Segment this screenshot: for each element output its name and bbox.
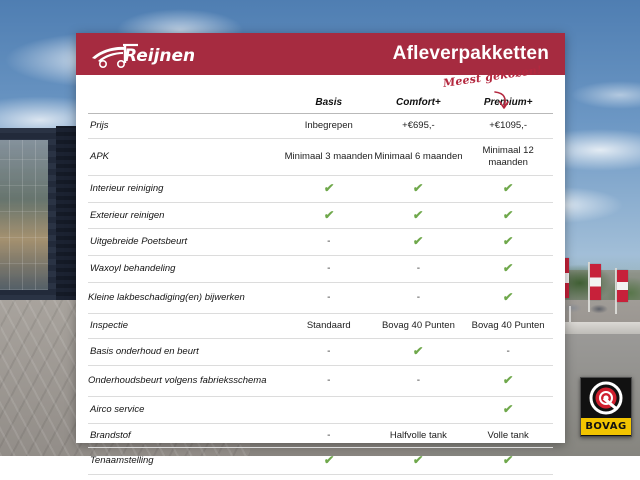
card-header: Reijnen Afleverpakketten (76, 33, 565, 75)
poster-canvas: Reijnen Afleverpakketten (0, 0, 640, 480)
cell-comfort: - (374, 256, 464, 283)
column-header-premium: Premium+ (463, 75, 553, 114)
cell-basis: - (284, 283, 374, 314)
cell-comfort: Bovag 40 Punten (374, 314, 464, 339)
table-row: 12 maand mobiliteit garantie-✔✔ (88, 475, 553, 480)
cell-basis: ✔ (284, 448, 374, 475)
row-label: Inspectie (88, 314, 284, 339)
bovag-badge: BOVAG (580, 377, 632, 437)
cell-basis: - (284, 423, 374, 448)
check-icon: ✔ (413, 345, 424, 357)
dash-marker: - (327, 293, 330, 303)
bovag-wordmark: BOVAG (581, 418, 631, 435)
table-row: PrijsInbegrepen+€695,-+€1095,- (88, 114, 553, 139)
column-header-label (88, 75, 284, 114)
cell-comfort: ✔ (374, 229, 464, 256)
cell-premium: ✔ (463, 256, 553, 283)
cell-comfort: - (374, 283, 464, 314)
row-label: Airco service (88, 396, 284, 423)
row-label: Basis onderhoud en beurt (88, 338, 284, 365)
row-label: Uitgebreide Poetsbeurt (88, 229, 284, 256)
cell-comfort: ✔ (374, 448, 464, 475)
cell-basis: ✔ (284, 202, 374, 229)
cell-basis: Minimaal 3 maanden (284, 138, 374, 175)
banner-flag (590, 264, 601, 300)
row-label: Kleine lakbeschadiging(en) bijwerken (88, 283, 284, 314)
dash-marker: - (327, 431, 330, 441)
check-icon: ✔ (323, 454, 334, 466)
table-row: Brandstof-Halfvolle tankVolle tank (88, 423, 553, 448)
table-row: Airco service ✔ (88, 396, 553, 423)
check-icon: ✔ (323, 209, 334, 221)
banner-flag (617, 270, 628, 302)
reijnen-logo: Reijnen (90, 37, 194, 71)
table-row: Exterieur reinigen✔✔✔ (88, 202, 553, 229)
dash-marker: - (506, 347, 509, 357)
check-icon: ✔ (502, 291, 513, 303)
cell-basis (284, 396, 374, 423)
table-body: PrijsInbegrepen+€695,-+€1095,-APKMinimaa… (88, 114, 553, 480)
cell-comfort (374, 396, 464, 423)
row-label: Exterieur reinigen (88, 202, 284, 229)
check-icon: ✔ (413, 182, 424, 194)
cell-premium: ✔ (463, 448, 553, 475)
table-row: APKMinimaal 3 maandenMinimaal 6 maandenM… (88, 138, 553, 175)
table-row: Waxoyl behandeling--✔ (88, 256, 553, 283)
table-row: Onderhoudsbeurt volgens fabrieksschema--… (88, 365, 553, 396)
table-row: Tenaamstelling✔✔✔ (88, 448, 553, 475)
empty-cell (417, 404, 420, 416)
svg-text:Reijnen: Reijnen (124, 46, 194, 66)
dash-marker: - (417, 264, 420, 274)
header-row: Basis Comfort+ Premium+ (88, 75, 553, 114)
cell-comfort: ✔ (374, 175, 464, 202)
cell-premium: ✔ (463, 175, 553, 202)
dash-marker: - (417, 293, 420, 303)
check-icon: ✔ (502, 182, 513, 194)
table-row: Basis onderhoud en beurt-✔- (88, 338, 553, 365)
row-label: Brandstof (88, 423, 284, 448)
table-head: Basis Comfort+ Premium+ (88, 75, 553, 114)
cell-comfort: Minimaal 6 maanden (374, 138, 464, 175)
bovag-target-icon (581, 378, 631, 418)
table-row: Uitgebreide Poetsbeurt-✔✔ (88, 229, 553, 256)
row-label: APK (88, 138, 284, 175)
table-row: Interieur reiniging✔✔✔ (88, 175, 553, 202)
cell-basis: Inbegrepen (284, 114, 374, 139)
check-icon: ✔ (502, 403, 513, 415)
row-label: Waxoyl behandeling (88, 256, 284, 283)
check-icon: ✔ (413, 235, 424, 247)
cell-comfort: ✔ (374, 338, 464, 365)
comparison-table-wrap: Basis Comfort+ Premium+ PrijsInbegrepen+… (76, 75, 565, 480)
cell-basis: Standaard (284, 314, 374, 339)
row-label: Prijs (88, 114, 284, 139)
check-icon: ✔ (323, 182, 334, 194)
row-label: Tenaamstelling (88, 448, 284, 475)
check-icon: ✔ (502, 262, 513, 274)
cell-premium: ✔ (463, 229, 553, 256)
check-icon: ✔ (413, 454, 424, 466)
check-icon: ✔ (502, 454, 513, 466)
cell-basis: - (284, 256, 374, 283)
check-icon: ✔ (502, 235, 513, 247)
page-title: Afleverpakketten (393, 43, 549, 65)
row-label: 12 maand mobiliteit garantie (88, 475, 284, 480)
column-header-comfort: Comfort+ (374, 75, 464, 114)
cell-basis: - (284, 229, 374, 256)
table-row: InspectieStandaardBovag 40 PuntenBovag 4… (88, 314, 553, 339)
empty-cell (327, 404, 330, 416)
check-icon: ✔ (502, 209, 513, 221)
cell-premium: Bovag 40 Punten (463, 314, 553, 339)
building-glass-facade (0, 140, 48, 290)
check-icon: ✔ (502, 374, 513, 386)
cell-premium: ✔ (463, 202, 553, 229)
dash-marker: - (327, 376, 330, 386)
cell-premium: ✔ (463, 475, 553, 480)
cell-basis: ✔ (284, 175, 374, 202)
row-label: Interieur reiniging (88, 175, 284, 202)
cell-premium: +€1095,- (463, 114, 553, 139)
table-row: Kleine lakbeschadiging(en) bijwerken--✔ (88, 283, 553, 314)
cell-premium: ✔ (463, 396, 553, 423)
dash-marker: - (327, 237, 330, 247)
dash-marker: - (417, 376, 420, 386)
dash-marker: - (327, 264, 330, 274)
cell-basis: - (284, 365, 374, 396)
cell-premium: ✔ (463, 283, 553, 314)
cell-basis: - (284, 338, 374, 365)
cell-comfort: - (374, 365, 464, 396)
cell-premium: ✔ (463, 365, 553, 396)
cell-comfort: ✔ (374, 475, 464, 480)
column-header-basis: Basis (284, 75, 374, 114)
check-icon: ✔ (413, 209, 424, 221)
cell-comfort: Halfvolle tank (374, 423, 464, 448)
cell-comfort: +€695,- (374, 114, 464, 139)
row-label: Onderhoudsbeurt volgens fabrieksschema (88, 365, 284, 396)
cell-premium: Volle tank (463, 423, 553, 448)
cell-premium: Minimaal 12 maanden (463, 138, 553, 175)
dash-marker: - (327, 347, 330, 357)
package-comparison-card: Reijnen Afleverpakketten (76, 33, 565, 443)
cell-basis: - (284, 475, 374, 480)
cell-premium: - (463, 338, 553, 365)
cell-comfort: ✔ (374, 202, 464, 229)
comparison-table: Basis Comfort+ Premium+ PrijsInbegrepen+… (88, 75, 553, 480)
